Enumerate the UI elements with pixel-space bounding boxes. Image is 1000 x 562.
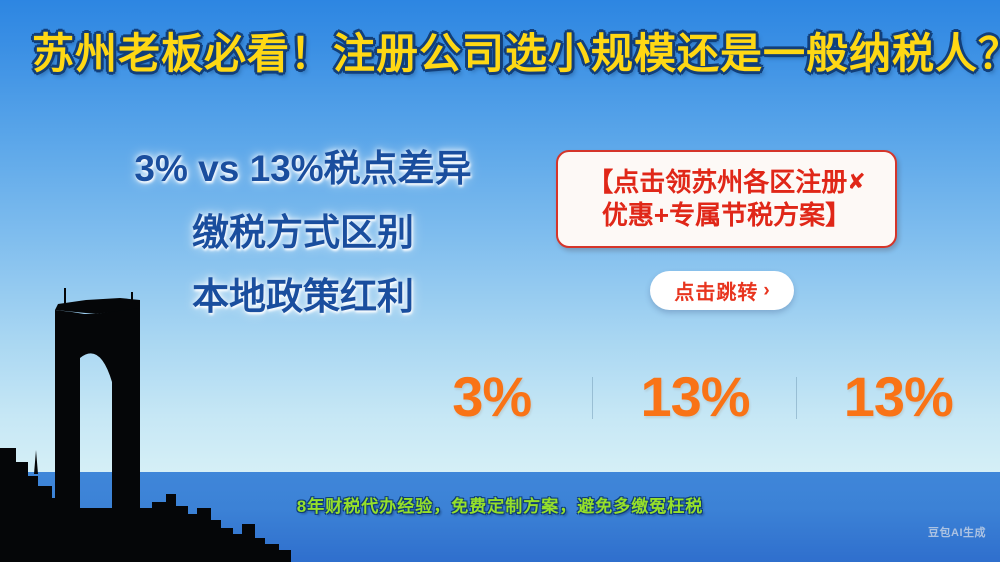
cta-line-2: 优惠+专属节税方案】 (602, 200, 851, 230)
headline-container: 苏州老板必看！注册公司选小规模还是一般纳税人？ (0, 30, 1000, 78)
percent-value-3: 13% (844, 369, 953, 425)
footer-tagline-container: 8年财税代办经验，免费定制方案，避免多缴冤枉税 (0, 492, 1000, 517)
cta-line-1: 【点击领苏州各区注册 (587, 167, 847, 197)
percent-value-1: 3% (452, 369, 531, 425)
bullet-item-payment-method: 缴税方式区别 (88, 214, 518, 251)
percent-cell: 3% (390, 363, 593, 431)
percent-cell: 13% (797, 363, 1000, 431)
footer-tagline: 8年财税代办经验，免费定制方案，避免多缴冤枉税 (297, 492, 703, 517)
jump-button[interactable]: 点击跳转 › (650, 271, 794, 310)
poster-canvas: 苏州老板必看！注册公司选小规模还是一般纳税人？ 3% vs 13%税点差异 缴税… (0, 0, 1000, 562)
feature-bullet-list: 3% vs 13%税点差异 缴税方式区别 本地政策红利 (88, 150, 518, 315)
page-title: 苏州老板必看！注册公司选小规模还是一般纳税人？ (32, 30, 1000, 78)
percent-value-2: 13% (640, 369, 749, 425)
bullet-item-local-policy: 本地政策红利 (88, 278, 518, 315)
cta-offer-box[interactable]: 【点击领苏州各区注册✘ 优惠+专属节税方案】 (556, 150, 897, 248)
ai-watermark: 豆包AI生成 (928, 524, 986, 540)
percent-cell: 13% (593, 363, 796, 431)
bullet-item-tax-rate-difference: 3% vs 13%税点差异 (88, 150, 518, 187)
cross-icon: ✘ (847, 168, 865, 196)
chevron-right-icon: › (763, 280, 769, 302)
cta-offer-text: 【点击领苏州各区注册✘ 优惠+专属节税方案】 (579, 166, 873, 233)
jump-button-label: 点击跳转 (674, 276, 758, 305)
percent-comparison-row: 3% 13% 13% (390, 363, 1000, 431)
water-band (0, 472, 1000, 562)
